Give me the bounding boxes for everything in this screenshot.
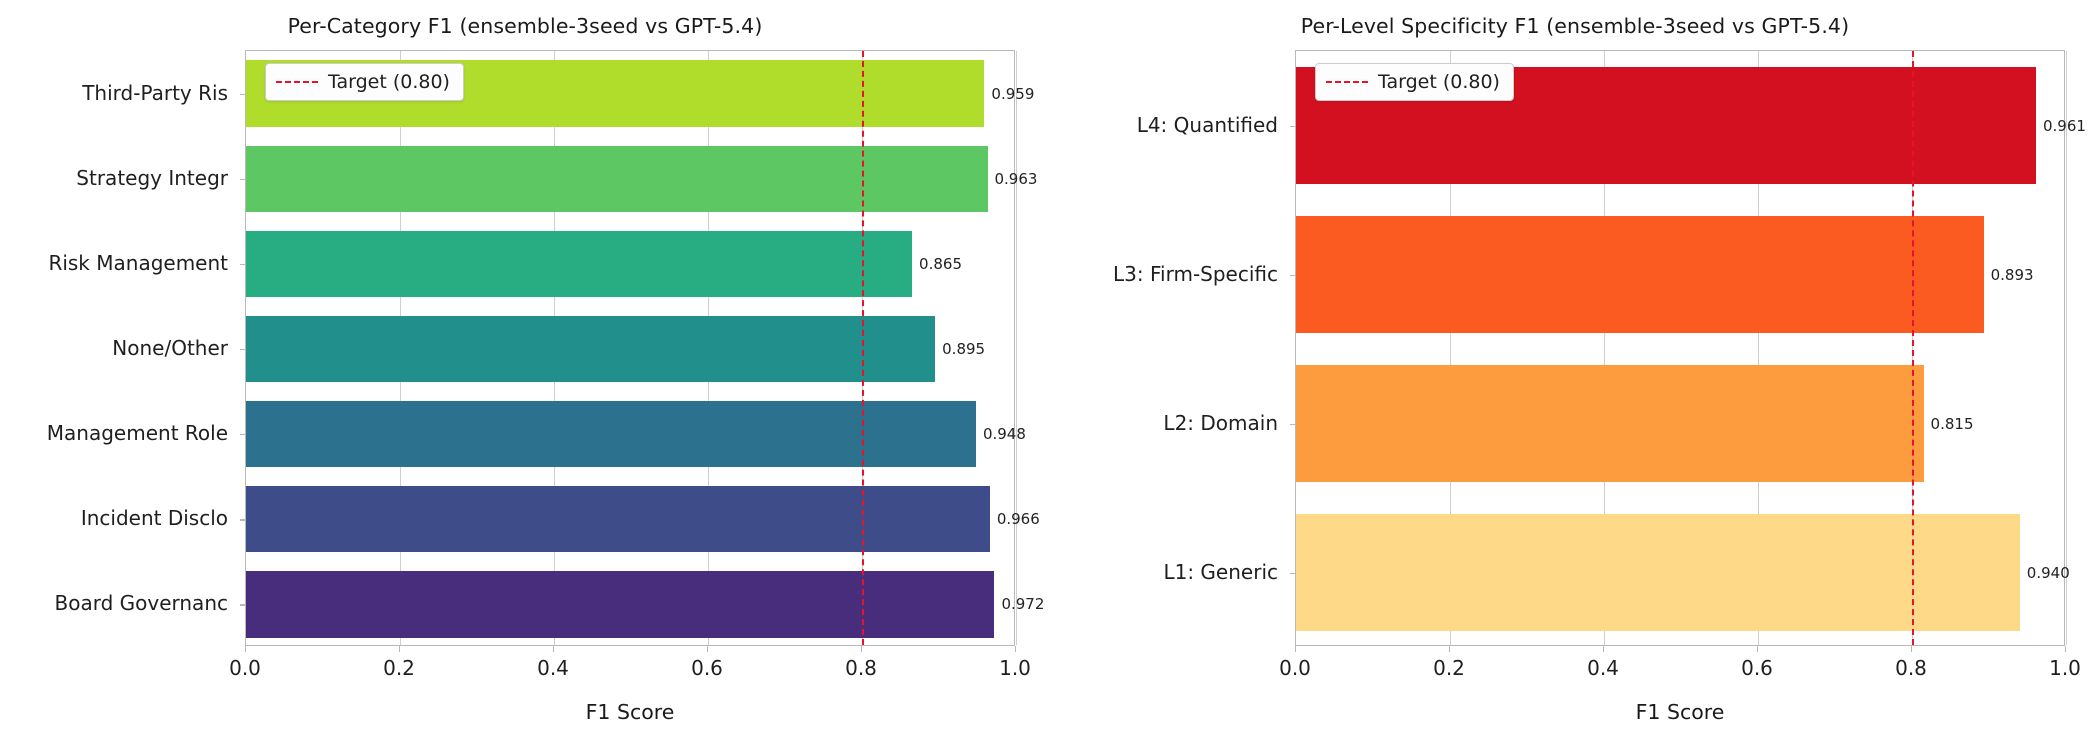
target-line bbox=[1912, 51, 1914, 645]
x-tick-mark bbox=[1757, 646, 1758, 652]
y-tick-mark bbox=[1290, 126, 1296, 127]
bar bbox=[1296, 365, 1924, 481]
x-tick-mark bbox=[1603, 646, 1604, 652]
bar bbox=[246, 316, 935, 382]
panel-title-per-category: Per-Category F1 (ensemble-3seed vs GPT-5… bbox=[0, 14, 1050, 38]
y-tick-label: Strategy Integr bbox=[76, 166, 228, 190]
x-tick-mark bbox=[1911, 646, 1912, 652]
y-tick-mark bbox=[240, 349, 246, 350]
target-line bbox=[862, 51, 864, 645]
x-tick-label: 0.6 bbox=[1741, 656, 1773, 680]
y-tick-label: L1: Generic bbox=[1163, 560, 1278, 584]
figure-canvas: Per-Category F1 (ensemble-3seed vs GPT-5… bbox=[0, 0, 2100, 750]
y-tick-label: Risk Management bbox=[48, 251, 228, 275]
target-line-swatch-icon bbox=[276, 81, 318, 83]
bar-value-label: 0.959 bbox=[991, 85, 1034, 103]
bar-row bbox=[246, 316, 1014, 382]
y-tick-mark bbox=[1290, 573, 1296, 574]
y-tick-label: Management Role bbox=[47, 421, 228, 445]
bar bbox=[246, 146, 988, 212]
y-tick-label: Board Governanc bbox=[55, 591, 229, 615]
bar-value-label: 0.895 bbox=[942, 340, 985, 358]
y-tick-label: L4: Quantified bbox=[1137, 113, 1278, 137]
y-tick-label: L3: Firm-Specific bbox=[1113, 262, 1278, 286]
y-tick-label: None/Other bbox=[112, 336, 228, 360]
x-tick-label: 1.0 bbox=[2049, 656, 2081, 680]
bar bbox=[246, 486, 990, 552]
x-tick-label: 1.0 bbox=[999, 656, 1031, 680]
legend-per-category: Target (0.80) bbox=[265, 63, 464, 101]
bar-row bbox=[246, 571, 1014, 637]
bar-value-label: 0.940 bbox=[2027, 564, 2070, 582]
plot-area-per-category: 0.9590.9630.8650.8950.9480.9660.972 bbox=[245, 50, 1015, 646]
bar-value-label: 0.815 bbox=[1931, 415, 1974, 433]
x-axis-ticks-per-category: 0.00.20.40.60.81.0 bbox=[245, 646, 1015, 690]
y-tick-label: L2: Domain bbox=[1163, 411, 1278, 435]
bar-row bbox=[246, 146, 1014, 212]
x-tick-label: 0.2 bbox=[383, 656, 415, 680]
bar-row bbox=[1296, 514, 2064, 630]
x-tick-mark bbox=[1015, 646, 1016, 652]
y-tick-mark bbox=[1290, 275, 1296, 276]
bar-row bbox=[246, 231, 1014, 297]
bar-row bbox=[246, 486, 1014, 552]
bar-value-label: 0.972 bbox=[1001, 595, 1044, 613]
y-axis-labels-per-level: L4: QuantifiedL3: Firm-SpecificL2: Domai… bbox=[1050, 50, 1290, 646]
x-tick-label: 0.4 bbox=[1587, 656, 1619, 680]
panel-title-per-level: Per-Level Specificity F1 (ensemble-3seed… bbox=[1050, 14, 2100, 38]
bar bbox=[246, 231, 912, 297]
y-tick-mark bbox=[240, 604, 246, 605]
x-tick-label: 0.8 bbox=[1895, 656, 1927, 680]
bar-value-label: 0.963 bbox=[995, 170, 1038, 188]
bar-row bbox=[1296, 216, 2064, 332]
bar-value-label: 0.961 bbox=[2043, 117, 2086, 135]
y-tick-mark bbox=[1290, 424, 1296, 425]
legend-per-level: Target (0.80) bbox=[1315, 63, 1514, 101]
y-tick-label: Third-Party Ris bbox=[82, 81, 228, 105]
x-tick-mark bbox=[245, 646, 246, 652]
y-tick-label: Incident Disclo bbox=[81, 506, 228, 530]
bar-series-per-category: 0.9590.9630.8650.8950.9480.9660.972 bbox=[246, 51, 1014, 645]
panel-per-level: Per-Level Specificity F1 (ensemble-3seed… bbox=[1050, 0, 2100, 750]
target-line-swatch-icon bbox=[1326, 81, 1368, 83]
bar-value-label: 0.948 bbox=[983, 425, 1026, 443]
bar bbox=[1296, 216, 1984, 332]
bar bbox=[246, 571, 994, 637]
x-axis-ticks-per-level: 0.00.20.40.60.81.0 bbox=[1295, 646, 2065, 690]
x-tick-label: 0.0 bbox=[1279, 656, 1311, 680]
x-tick-label: 0.6 bbox=[691, 656, 723, 680]
legend-label-target: Target (0.80) bbox=[1378, 71, 1500, 93]
x-tick-label: 0.4 bbox=[537, 656, 569, 680]
y-tick-mark bbox=[240, 94, 246, 95]
x-tick-mark bbox=[707, 646, 708, 652]
bar-value-label: 0.966 bbox=[997, 510, 1040, 528]
gridline bbox=[1016, 51, 1017, 645]
x-tick-label: 0.0 bbox=[229, 656, 261, 680]
plot-area-per-level: 0.9610.8930.8150.940 bbox=[1295, 50, 2065, 646]
bar-value-label: 0.893 bbox=[1991, 266, 2034, 284]
x-tick-mark bbox=[861, 646, 862, 652]
legend-label-target: Target (0.80) bbox=[328, 71, 450, 93]
bar-row bbox=[246, 401, 1014, 467]
y-tick-mark bbox=[240, 179, 246, 180]
y-axis-labels-per-category: Third-Party RisStrategy IntegrRisk Manag… bbox=[0, 50, 240, 646]
x-tick-mark bbox=[1295, 646, 1296, 652]
x-tick-mark bbox=[553, 646, 554, 652]
bar-series-per-level: 0.9610.8930.8150.940 bbox=[1296, 51, 2064, 645]
y-tick-mark bbox=[240, 519, 246, 520]
y-tick-mark bbox=[240, 434, 246, 435]
panel-per-category: Per-Category F1 (ensemble-3seed vs GPT-5… bbox=[0, 0, 1050, 750]
x-tick-mark bbox=[399, 646, 400, 652]
x-axis-title-per-category: F1 Score bbox=[245, 700, 1015, 724]
y-tick-mark bbox=[240, 264, 246, 265]
x-tick-label: 0.2 bbox=[1433, 656, 1465, 680]
x-tick-mark bbox=[1449, 646, 1450, 652]
gridline bbox=[2066, 51, 2067, 645]
x-tick-mark bbox=[2065, 646, 2066, 652]
bar-value-label: 0.865 bbox=[919, 255, 962, 273]
bar bbox=[246, 401, 976, 467]
x-axis-title-per-level: F1 Score bbox=[1295, 700, 2065, 724]
x-tick-label: 0.8 bbox=[845, 656, 877, 680]
